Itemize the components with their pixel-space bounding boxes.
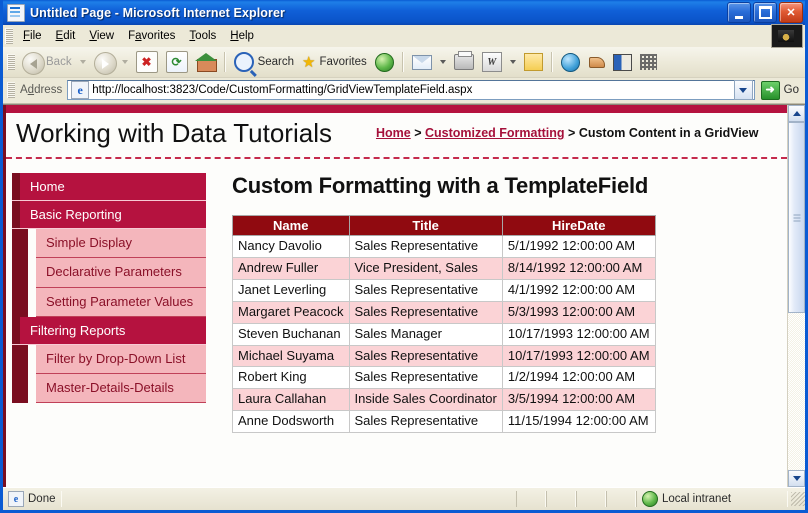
menu-bar: File Edit View Favorites Tools Help xyxy=(3,25,805,47)
menu-item-file[interactable]: File xyxy=(16,28,49,44)
cell-name: Michael Suyama xyxy=(233,345,350,367)
mail-icon xyxy=(412,55,432,70)
history-button[interactable] xyxy=(371,50,398,74)
sidebar-item-setting-parameter-values[interactable]: Setting Parameter Values xyxy=(36,288,206,317)
cell-hiredate: 4/1/1992 12:00:00 AM xyxy=(502,280,655,302)
stop-button[interactable]: ✖ xyxy=(132,50,162,74)
go-label: Go xyxy=(784,84,799,96)
security-zone-label: Local intranet xyxy=(662,493,731,505)
address-input[interactable]: http://localhost:3823/Code/CustomFormatt… xyxy=(67,80,754,100)
edit-word-button[interactable]: W xyxy=(478,50,506,74)
main-content: Custom Formatting with a TemplateField N… xyxy=(206,159,787,433)
breadcrumb-sep-2: > xyxy=(565,126,579,140)
page-title: Custom Formatting with a TemplateField xyxy=(232,173,777,199)
star-icon: ★ xyxy=(302,55,315,70)
home-icon xyxy=(196,53,216,71)
window-title: Untitled Page - Microsoft Internet Explo… xyxy=(30,6,727,20)
menu-item-favorites[interactable]: Favorites xyxy=(121,28,182,44)
page-body: Home Basic Reporting Simple Display Decl… xyxy=(6,159,787,433)
scrollbar-thumb[interactable] xyxy=(788,122,805,313)
address-dropdown-button[interactable] xyxy=(734,80,753,100)
toolbar-separator-3 xyxy=(551,52,553,72)
messenger-button[interactable] xyxy=(584,50,609,74)
mail-dropdown-icon[interactable] xyxy=(440,60,446,64)
back-arrow-icon xyxy=(22,52,42,72)
ie-brand-logo xyxy=(771,24,803,48)
table-row: Janet LeverlingSales Representative4/1/1… xyxy=(233,280,656,302)
status-pane-3 xyxy=(576,491,606,507)
cell-hiredate: 3/5/1994 12:00:00 AM xyxy=(502,389,655,411)
browser-window: Untitled Page - Microsoft Internet Explo… xyxy=(0,0,808,513)
column-header-name[interactable]: Name xyxy=(233,216,350,236)
table-row: Laura CallahanInside Sales Coordinator3/… xyxy=(233,389,656,411)
favorites-label: Favorites xyxy=(319,56,366,68)
refresh-icon: ⟳ xyxy=(166,51,188,73)
cell-title: Sales Representative xyxy=(349,367,502,389)
encoding-button[interactable] xyxy=(636,50,661,74)
forward-arrow-icon xyxy=(94,52,114,72)
sidebar-item-label: Home xyxy=(30,179,198,194)
page-globe-icon xyxy=(71,81,89,99)
cell-title: Sales Representative xyxy=(349,280,502,302)
research-book-icon xyxy=(613,54,632,71)
window-controls: ✕ xyxy=(727,2,803,23)
cell-hiredate: 5/3/1993 12:00:00 AM xyxy=(502,301,655,323)
page-accent-bar xyxy=(6,105,787,113)
toolbar-separator xyxy=(224,52,226,72)
search-icon xyxy=(234,52,254,72)
address-label: Address xyxy=(18,84,67,96)
table-row: Andrew FullerVice President, Sales8/14/1… xyxy=(233,258,656,280)
cell-title: Inside Sales Coordinator xyxy=(349,389,502,411)
status-text-pane: Done xyxy=(3,491,62,507)
status-text: Done xyxy=(28,493,56,505)
sidebar-item-declarative-parameters[interactable]: Declarative Parameters xyxy=(36,258,206,287)
word-icon: W xyxy=(482,52,502,72)
sidebar-nav: Home Basic Reporting Simple Display Decl… xyxy=(6,159,206,403)
resize-grip[interactable] xyxy=(791,492,805,506)
back-label: Back xyxy=(46,56,72,68)
web-page: Working with Data Tutorials Home > Custo… xyxy=(3,105,787,487)
forward-button[interactable] xyxy=(90,50,118,74)
column-header-hiredate[interactable]: HireDate xyxy=(502,216,655,236)
print-button[interactable] xyxy=(450,50,478,74)
cell-title: Sales Representative xyxy=(349,345,502,367)
table-row: Nancy DavolioSales Representative5/1/199… xyxy=(233,236,656,258)
sidebar-item-home[interactable]: Home xyxy=(12,173,206,201)
cell-title: Sales Representative xyxy=(349,301,502,323)
toolbar-separator-2 xyxy=(402,52,404,72)
forward-dropdown-icon[interactable] xyxy=(122,60,128,64)
messenger-icon xyxy=(588,54,605,70)
cell-hiredate: 1/2/1994 12:00:00 AM xyxy=(502,367,655,389)
menu-item-help[interactable]: Help xyxy=(223,28,261,44)
home-button[interactable] xyxy=(192,50,220,74)
encoding-icon xyxy=(640,54,657,70)
close-button[interactable]: ✕ xyxy=(779,2,803,23)
address-url: http://localhost:3823/Code/CustomFormatt… xyxy=(92,84,733,96)
menu-item-tools[interactable]: Tools xyxy=(182,28,223,44)
vertical-scrollbar[interactable] xyxy=(787,105,805,487)
cell-name: Nancy Davolio xyxy=(233,236,350,258)
status-pane-4 xyxy=(606,491,636,507)
address-grip[interactable] xyxy=(7,82,15,98)
web-globe-button[interactable] xyxy=(557,50,584,74)
history-icon xyxy=(375,53,394,72)
table-row: Anne DodsworthSales Representative11/15/… xyxy=(233,411,656,433)
cell-name: Laura Callahan xyxy=(233,389,350,411)
table-row: Robert KingSales Representative1/2/1994 … xyxy=(233,367,656,389)
note-icon xyxy=(524,53,543,71)
cell-hiredate: 10/17/1993 12:00:00 AM xyxy=(502,345,655,367)
back-button[interactable]: Back xyxy=(18,50,76,74)
cell-name: Anne Dodsworth xyxy=(233,411,350,433)
page-header: Working with Data Tutorials Home > Custo… xyxy=(6,113,787,159)
site-title: Working with Data Tutorials xyxy=(16,119,332,149)
breadcrumb-link-home[interactable]: Home xyxy=(376,126,411,140)
maximize-button[interactable] xyxy=(753,2,777,23)
menu-grip[interactable] xyxy=(5,28,13,44)
cell-name: Margaret Peacock xyxy=(233,301,350,323)
cell-hiredate: 11/15/1994 12:00:00 AM xyxy=(502,411,655,433)
address-bar: Address http://localhost:3823/Code/Custo… xyxy=(3,78,805,104)
back-dropdown-icon[interactable] xyxy=(80,60,86,64)
title-bar: Untitled Page - Microsoft Internet Explo… xyxy=(3,0,805,25)
refresh-button[interactable]: ⟳ xyxy=(162,50,192,74)
status-bar: Done Local intranet xyxy=(3,487,805,510)
cell-title: Sales Representative xyxy=(349,411,502,433)
sidebar-item-filtering-reports[interactable]: Filtering Reports xyxy=(12,317,206,345)
employees-gridview: Name Title HireDate Nancy DavolioSales R… xyxy=(232,215,656,433)
table-body: Nancy DavolioSales Representative5/1/199… xyxy=(233,236,656,433)
security-zone-pane[interactable]: Local intranet xyxy=(636,491,788,507)
cell-title: Sales Representative xyxy=(349,236,502,258)
cell-name: Steven Buchanan xyxy=(233,323,350,345)
globe-icon xyxy=(561,53,580,72)
page-icon xyxy=(7,4,25,22)
table-row: Steven BuchananSales Manager10/17/1993 1… xyxy=(233,323,656,345)
edit-dropdown-icon[interactable] xyxy=(510,60,516,64)
cell-title: Vice President, Sales xyxy=(349,258,502,280)
printer-icon xyxy=(454,54,474,70)
table-header-row: Name Title HireDate xyxy=(233,216,656,236)
mail-button[interactable] xyxy=(408,50,436,74)
cell-name: Janet Leverling xyxy=(233,280,350,302)
table-row: Michael SuyamaSales Representative10/17/… xyxy=(233,345,656,367)
status-pane-1 xyxy=(516,491,546,507)
search-button[interactable]: Search xyxy=(230,50,298,74)
breadcrumb-link-section[interactable]: Customized Formatting xyxy=(425,126,565,140)
column-header-title[interactable]: Title xyxy=(349,216,502,236)
go-arrow-icon: ➜ xyxy=(761,81,780,100)
sidebar-item-master-details-details[interactable]: Master-Details-Details xyxy=(36,374,206,403)
minimize-button[interactable] xyxy=(727,2,751,23)
browser-toolbar: Back ✖ ⟳ Search ★ Favorites xyxy=(3,47,805,78)
cell-name: Andrew Fuller xyxy=(233,258,350,280)
go-button[interactable]: ➜ Go xyxy=(755,81,803,100)
sidebar-subgroup-filtering: Filter by Drop-Down List Master-Details-… xyxy=(20,345,206,404)
cell-name: Robert King xyxy=(233,367,350,389)
sidebar-item-label: Filtering Reports xyxy=(30,323,198,338)
status-page-icon xyxy=(8,491,24,507)
cell-title: Sales Manager xyxy=(349,323,502,345)
menu-item-view[interactable]: View xyxy=(82,28,121,44)
sidebar-item-label: Basic Reporting xyxy=(30,207,198,222)
sidebar-item-basic-reporting[interactable]: Basic Reporting xyxy=(12,201,206,229)
scroll-down-button[interactable] xyxy=(788,470,805,487)
status-pane-2 xyxy=(546,491,576,507)
sidebar-subgroup-basic: Simple Display Declarative Parameters Se… xyxy=(20,229,206,317)
table-row: Margaret PeacockSales Representative5/3/… xyxy=(233,301,656,323)
breadcrumb: Home > Customized Formatting > Custom Co… xyxy=(376,125,777,142)
zone-globe-icon xyxy=(642,491,658,507)
scroll-up-button[interactable] xyxy=(788,105,805,122)
scrollbar-track[interactable] xyxy=(788,122,805,470)
favorites-button[interactable]: ★ Favorites xyxy=(298,50,371,74)
page-viewport: Working with Data Tutorials Home > Custo… xyxy=(3,104,805,487)
discuss-button[interactable] xyxy=(520,50,547,74)
breadcrumb-current: Custom Content in a GridView xyxy=(579,126,759,140)
sidebar-item-simple-display[interactable]: Simple Display xyxy=(36,229,206,258)
cell-hiredate: 8/14/1992 12:00:00 AM xyxy=(502,258,655,280)
toolbar-grip[interactable] xyxy=(7,54,15,70)
menu-item-edit[interactable]: Edit xyxy=(49,28,83,44)
stop-icon: ✖ xyxy=(136,51,158,73)
search-label: Search xyxy=(258,56,294,68)
cell-hiredate: 10/17/1993 12:00:00 AM xyxy=(502,323,655,345)
research-button[interactable] xyxy=(609,50,636,74)
sidebar-item-filter-by-drop-down-list[interactable]: Filter by Drop-Down List xyxy=(36,345,206,374)
cell-hiredate: 5/1/1992 12:00:00 AM xyxy=(502,236,655,258)
breadcrumb-sep-1: > xyxy=(411,126,425,140)
